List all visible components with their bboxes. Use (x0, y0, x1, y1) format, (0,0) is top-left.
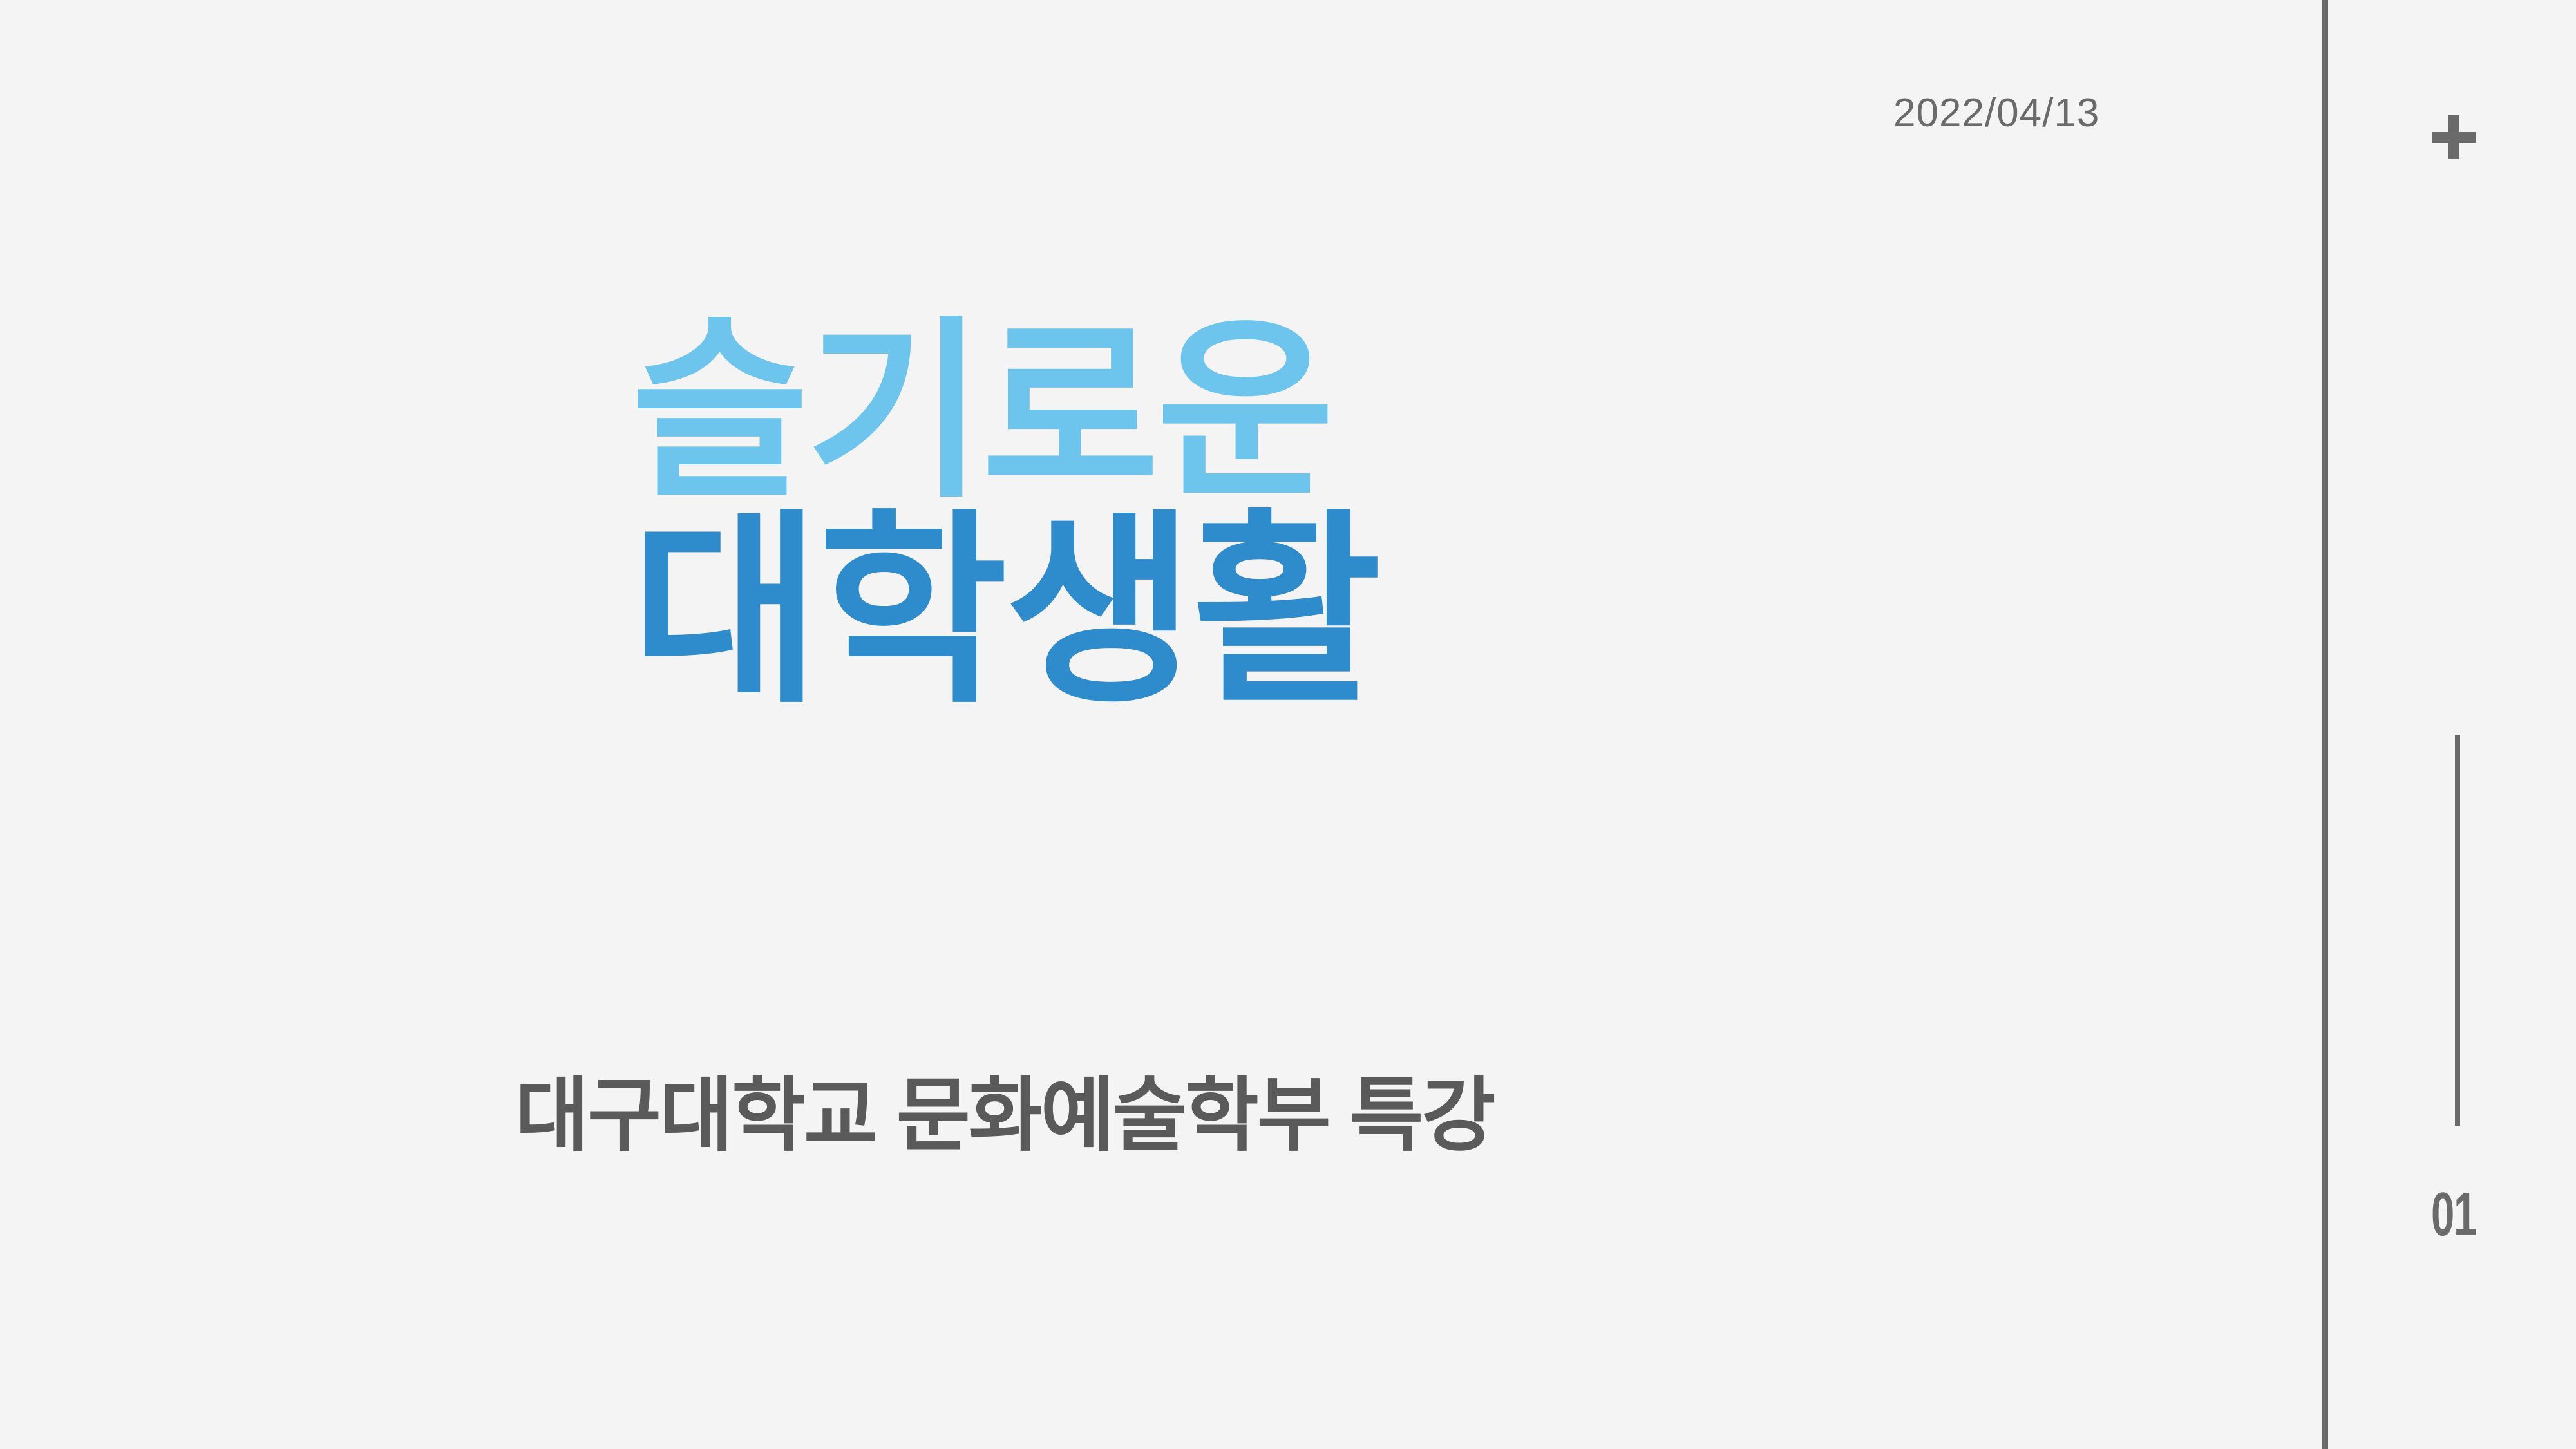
title-line-primary: 슬기로운 (631, 322, 1597, 502)
slide-date: 2022/04/13 (1893, 90, 2099, 136)
page-number: 01 (2405, 1184, 2502, 1245)
vertical-divider (2322, 0, 2328, 1449)
title-slide: 2022/04/13 슬기로운 대학생활 대구대학교 문화예술학부 특강 01 (0, 0, 2576, 1449)
title-block: 슬기로운 대학생활 (631, 322, 1597, 708)
plus-icon (2432, 115, 2476, 159)
title-line-secondary: 대학생활 (631, 516, 1597, 708)
rail-tick-mark (2455, 735, 2460, 1126)
slide-subtitle: 대구대학교 문화예술학부 특강 (515, 1050, 1493, 1166)
plus-icon-vertical-bar (2448, 115, 2459, 159)
